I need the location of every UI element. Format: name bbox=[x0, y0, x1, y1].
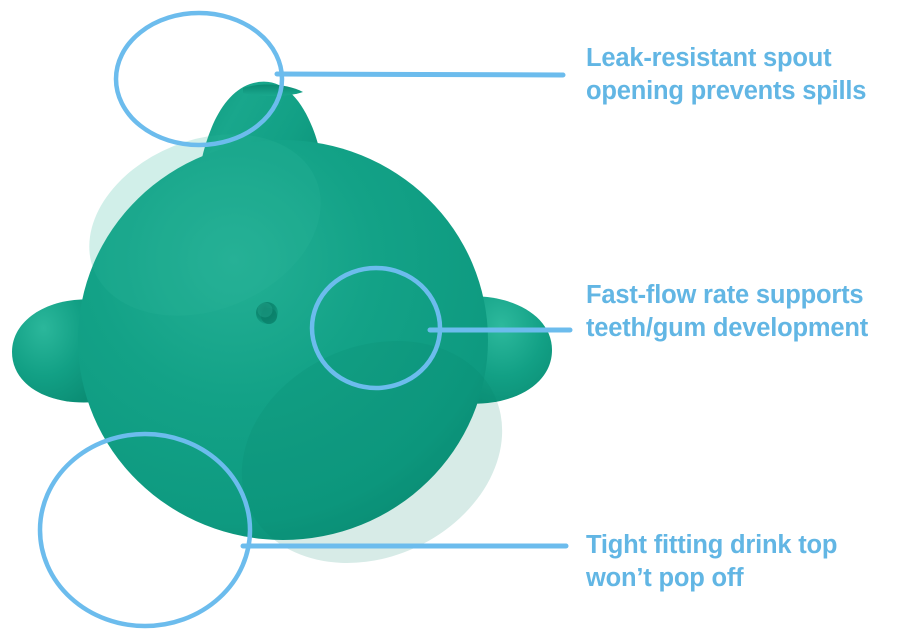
callout-1-marker bbox=[116, 13, 563, 145]
callout-3-label: Tight fitting drink top won’t pop off bbox=[586, 529, 906, 594]
product-group bbox=[12, 82, 552, 605]
callout-1-label: Leak-resistant spout opening prevents sp… bbox=[586, 42, 906, 107]
callout-1-circle bbox=[116, 13, 282, 145]
spout-slot bbox=[243, 85, 303, 96]
vent-hole bbox=[256, 302, 278, 324]
feature-callout-image: Leak-resistant spout opening prevents sp… bbox=[0, 0, 910, 634]
lid-body bbox=[62, 101, 539, 604]
callout-1-leader bbox=[277, 74, 563, 75]
callout-2-label: Fast-flow rate supports teeth/gum develo… bbox=[586, 279, 908, 344]
